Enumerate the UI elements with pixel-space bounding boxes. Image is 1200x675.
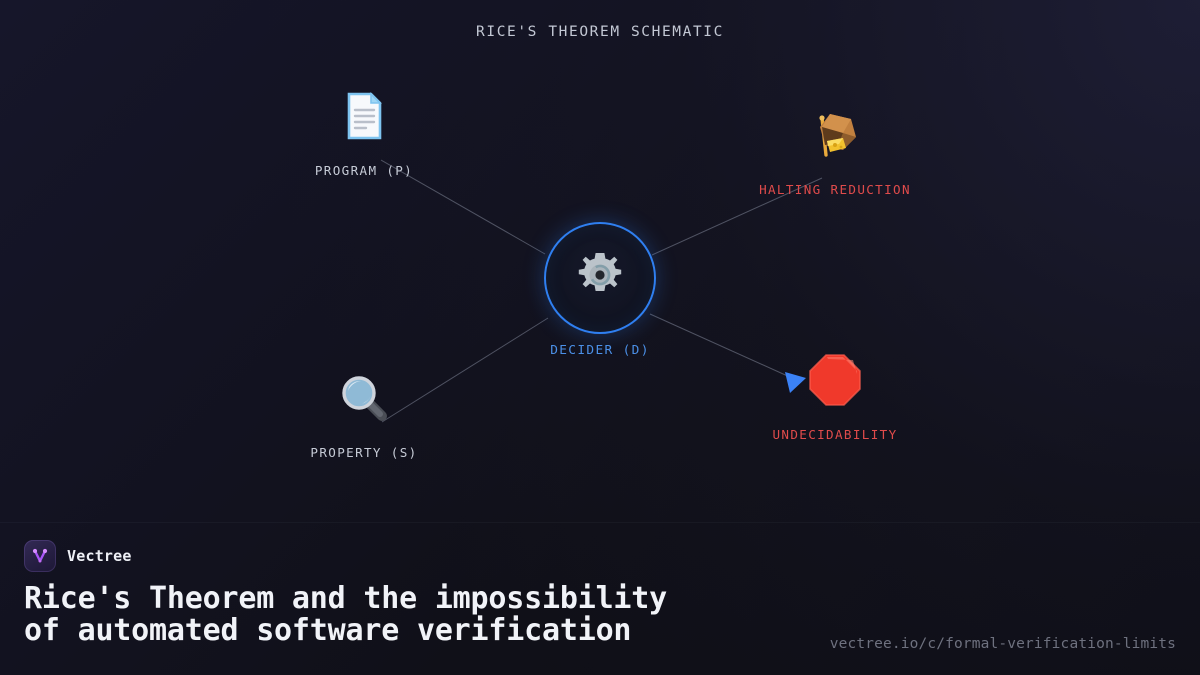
schematic-node-property[interactable]: PROPERTY (S) [249,370,479,460]
decider-hub-ring [544,222,656,334]
screenshot-canvas: RICE'S THEOREM SCHEMATIC PROGRAM [0,0,1200,675]
schematic-node-label: PROPERTY (S) [310,445,417,460]
schematic-title: RICE'S THEOREM SCHEMATIC [0,24,1200,40]
schematic-node-label: UNDECIDABILITY [772,427,897,442]
document-icon [336,88,392,154]
schematic-node-label: PROGRAM (P) [315,163,413,178]
vectree-logo-icon [24,540,56,572]
mousetrap-icon [806,107,864,173]
brand-name: Vectree [67,547,132,565]
stop-sign-icon [807,352,863,418]
site-url: vectree.io/c/formal-verification-limits [830,636,1176,652]
schematic-node-halting-reduction[interactable]: HALTING REDUCTION [720,107,950,197]
schematic-node-label: HALTING REDUCTION [759,182,911,197]
schematic-node-label: DECIDER (D) [550,343,650,358]
brand-row[interactable]: Vectree [24,540,1176,572]
magnifier-icon [336,370,392,436]
gear-icon [575,250,625,307]
footer-divider [0,522,1200,523]
schematic-node-program[interactable]: PROGRAM (P) [249,88,479,178]
schematic-node-decider[interactable]: DECIDER (D) [470,222,730,358]
footer: Vectree Rice's Theorem and the impossibi… [24,540,1176,660]
schematic-node-undecidability[interactable]: UNDECIDABILITY [720,352,950,442]
